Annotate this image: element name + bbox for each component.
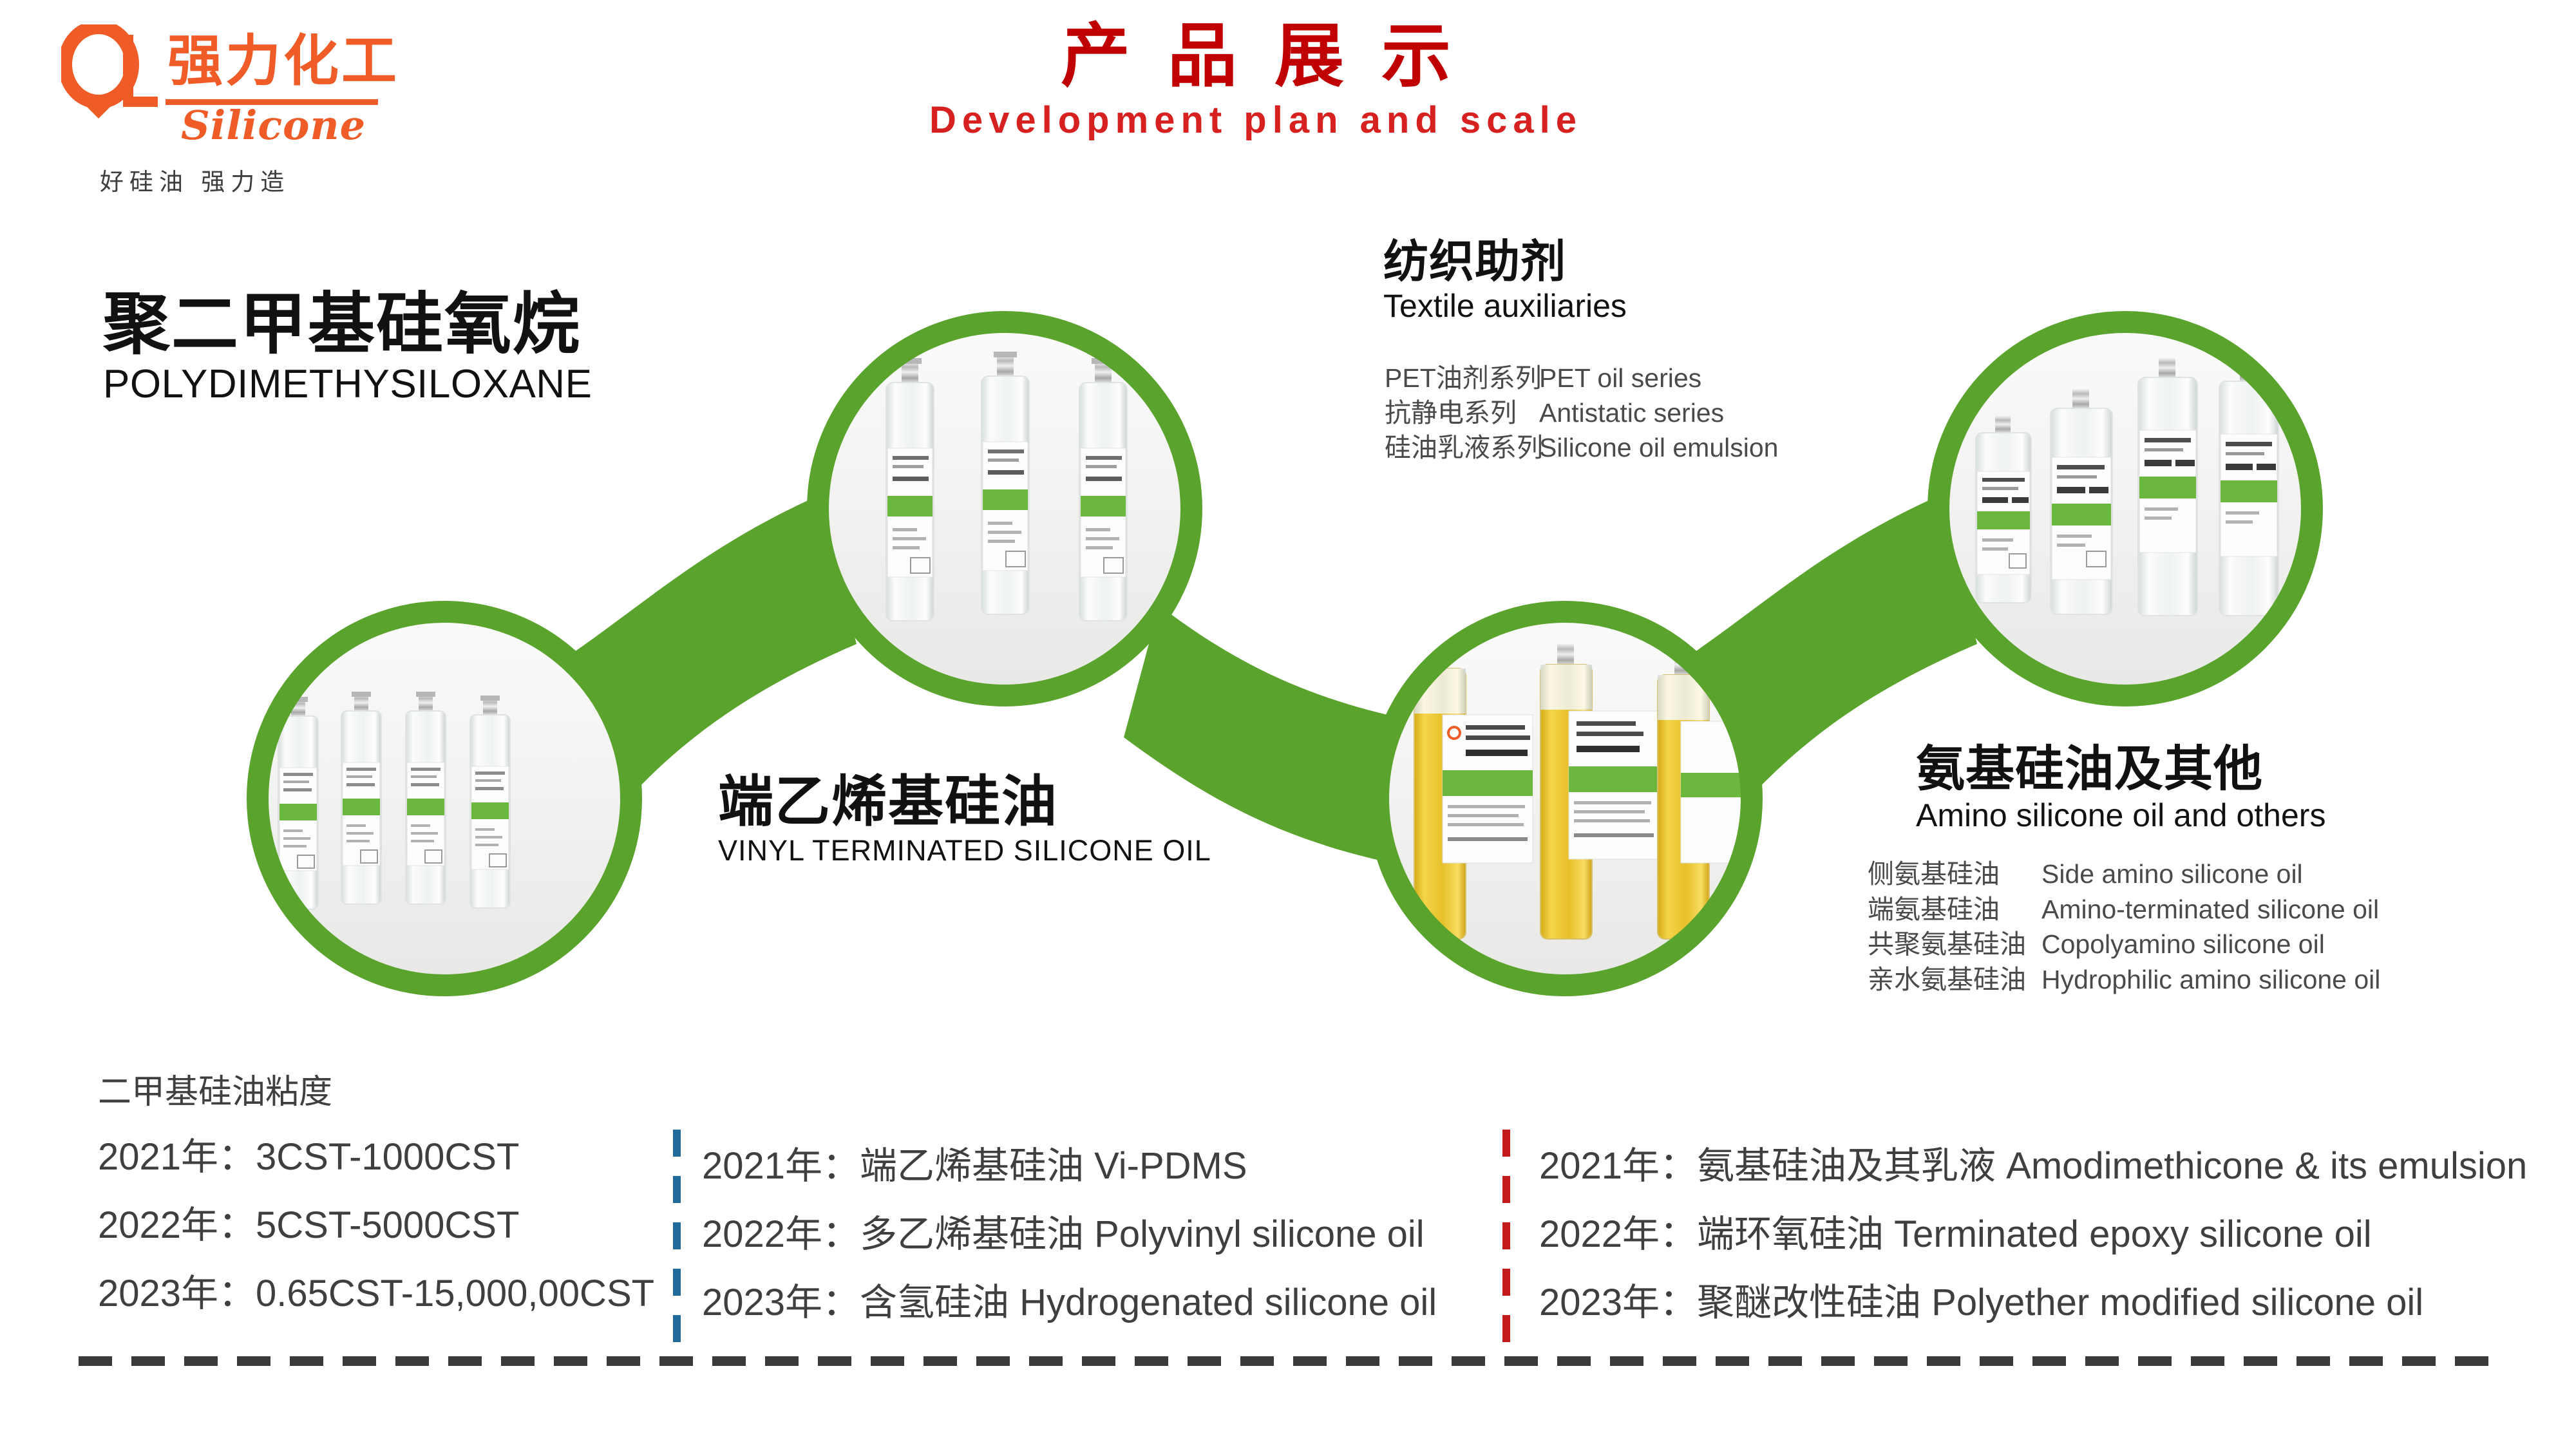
spec-zh: 抗静电系列 [1385,395,1539,430]
section-heading-textile: 纺织助剂 Textile auxiliaries [1383,238,1627,324]
page-title-cn: 产品展示 [831,19,1681,92]
spec-en: PET oil series [1539,361,1701,395]
logo-tagline: 好硅油 强力造 [100,162,290,197]
list-item: 亲水氨基硅油 Hydrophilic amino silicone oil [1868,962,2380,998]
divider-red-dashed [1502,1130,1510,1349]
logo-brand-en: Silicone [181,102,366,149]
list-item: PET油剂系列 PET oil series [1385,361,1778,395]
section-heading-vinyl-cn: 端乙烯基硅油 [718,773,1211,831]
spec-en: Amino-terminated silicone oil [2041,892,2379,927]
logo-company-name: 强力化工 [167,33,399,89]
company-logo: 强力化工 Silicone 好硅油 强力造 [61,19,422,180]
section-heading-vinyl-en: VINYL TERMINATED SILICONE OIL [718,835,1211,867]
section-heading-pdms-cn: 聚二甲基硅氧烷 [103,290,592,360]
spec-zh: 硅油乳液系列 [1385,430,1539,465]
spec-zh: 端氨基硅油 [1868,892,2041,927]
product-photo-circle-textile [1378,612,1758,985]
roadmap-column1-title: 二甲基硅油粘度 [98,1075,654,1109]
roadmap-line: 2023年：0.65CST-15,000,00CST [98,1275,654,1312]
footer-dashed-rule [79,1356,2500,1366]
roadmap-line: 2021年：端乙烯基硅油 Vi-PDMS [702,1148,1437,1185]
roadmap-line: 2022年：多乙烯基硅油 Polyvinyl silicone oil [702,1216,1437,1253]
list-item: 侧氨基硅油 Side amino silicone oil [1868,857,2380,892]
roadmap-column-amino: 2021年：氨基硅油及其乳液 Amodimethicone & its emul… [1539,1148,2527,1352]
page-title: 产品展示 Development plan and scale [831,19,1681,142]
spec-zh: 共聚氨基硅油 [1868,927,2041,962]
list-item: 硅油乳液系列 Silicone oil emulsion [1385,430,1778,465]
spec-list-amino: 侧氨基硅油 Side amino silicone oil 端氨基硅油 Amin… [1868,857,2380,997]
roadmap-line: 2022年：5CST-5000CST [98,1207,654,1244]
page-title-en: Development plan and scale [831,99,1681,142]
section-heading-textile-cn: 纺织助剂 [1383,238,1627,286]
list-item: 共聚氨基硅油 Copolyamino silicone oil [1868,927,2380,962]
section-heading-textile-en: Textile auxiliaries [1383,289,1627,324]
spec-en: Side amino silicone oil [2041,857,2303,892]
spec-en: Antistatic series [1539,395,1724,430]
spec-zh: PET油剂系列 [1385,361,1539,395]
list-item: 端氨基硅油 Amino-terminated silicone oil [1868,892,2380,927]
section-heading-amino-en: Amino silicone oil and others [1916,798,2325,833]
roadmap-column-vinyl: 2021年：端乙烯基硅油 Vi-PDMS 2022年：多乙烯基硅油 Polyvi… [702,1148,1437,1352]
spec-list-textile: PET油剂系列 PET oil series 抗静电系列 Antistatic … [1385,361,1778,465]
spec-en: Hydrophilic amino silicone oil [2041,962,2380,998]
product-photo-circle-amino [1938,322,2312,696]
product-photo-circle-vinyl [818,322,1191,696]
spec-zh: 亲水氨基硅油 [1868,962,2041,998]
section-heading-vinyl: 端乙烯基硅油 VINYL TERMINATED SILICONE OIL [718,773,1211,867]
spec-en: Copolyamino silicone oil [2041,927,2325,962]
divider-blue-dashed [673,1130,681,1349]
list-item: 抗静电系列 Antistatic series [1385,395,1778,430]
spec-en: Silicone oil emulsion [1539,430,1778,465]
section-heading-amino: 氨基硅油及其他 Amino silicone oil and others [1916,744,2325,833]
section-heading-pdms-en: POLYDIMETHYSILOXANE [103,363,592,406]
spec-zh: 侧氨基硅油 [1868,857,2041,892]
roadmap-line: 2021年：3CST-1000CST [98,1139,654,1176]
roadmap-line: 2021年：氨基硅油及其乳液 Amodimethicone & its emul… [1539,1148,2527,1185]
roadmap-line: 2023年：聚醚改性硅油 Polyether modified silicone… [1539,1284,2527,1321]
ql-monogram-icon [61,24,158,128]
roadmap-line: 2023年：含氢硅油 Hydrogenated silicone oil [702,1284,1437,1321]
section-heading-pdms: 聚二甲基硅氧烷 POLYDIMETHYSILOXANE [103,290,592,406]
product-photo-circle-pdms [258,612,631,985]
section-heading-amino-cn: 氨基硅油及其他 [1916,744,2325,795]
roadmap-column-viscosity: 二甲基硅油粘度 2021年：3CST-1000CST 2022年：5CST-50… [98,1075,654,1343]
roadmap-line: 2022年：端环氧硅油 Terminated epoxy silicone oi… [1539,1216,2527,1253]
